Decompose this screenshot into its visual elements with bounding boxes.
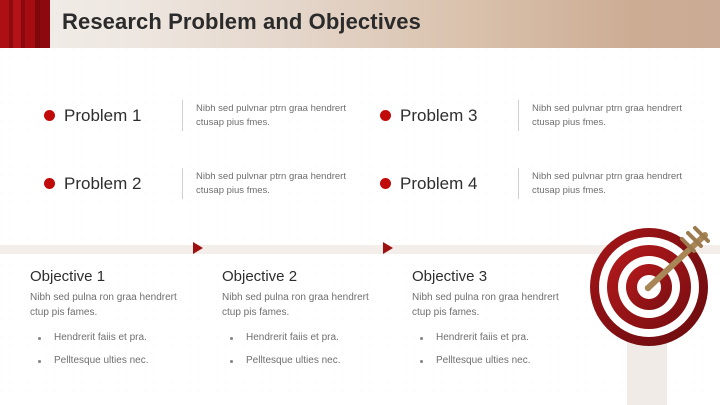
bullet-dot-icon <box>380 110 391 121</box>
problem-item-3[interactable]: Problem 3 Nibh sed pulvnar ptrn graa hen… <box>380 100 710 131</box>
objective-card-1[interactable]: Objective 1 Nibh sed pulna ron graa hend… <box>30 268 208 377</box>
timeline-arrow-icon <box>193 242 203 254</box>
objective-description: Nibh sed pulna ron graa hendrert ctup pi… <box>412 291 572 320</box>
problem-description: Nibh sed pulvnar ptrn graa hendrert ctus… <box>532 170 692 197</box>
timeline-arrow-icon <box>383 242 393 254</box>
list-item: Pelltesque ulties nec. <box>222 354 400 368</box>
vertical-divider <box>518 100 519 131</box>
problem-label: Problem 4 <box>400 174 518 194</box>
objective-bullet-list: Hendrerit faiis et pra. Pelltesque ultie… <box>412 331 590 368</box>
list-item: Pelltesque ulties nec. <box>412 354 590 368</box>
header-accent-bars <box>0 0 50 48</box>
problem-label: Problem 3 <box>400 106 518 126</box>
target-rings-icon <box>590 228 708 346</box>
objective-bullet-list: Hendrerit faiis et pra. Pelltesque ultie… <box>30 331 208 368</box>
target-graphic <box>572 222 720 405</box>
objective-title: Objective 3 <box>412 268 590 285</box>
objective-description: Nibh sed pulna ron graa hendrert ctup pi… <box>30 291 190 320</box>
problem-label: Problem 2 <box>64 174 182 194</box>
list-item: Hendrerit faiis et pra. <box>222 331 400 345</box>
objective-description: Nibh sed pulna ron graa hendrert ctup pi… <box>222 291 382 320</box>
objective-bullet-list: Hendrerit faiis et pra. Pelltesque ultie… <box>222 331 400 368</box>
list-item: Pelltesque ulties nec. <box>30 354 208 368</box>
bullet-dot-icon <box>44 178 55 189</box>
problem-description: Nibh sed pulvnar ptrn graa hendrert ctus… <box>532 102 692 129</box>
list-item: Hendrerit faiis et pra. <box>30 331 208 345</box>
problem-description: Nibh sed pulvnar ptrn graa hendrert ctus… <box>196 170 356 197</box>
vertical-divider <box>182 168 183 199</box>
problem-description: Nibh sed pulvnar ptrn graa hendrert ctus… <box>196 102 356 129</box>
objective-title: Objective 2 <box>222 268 400 285</box>
slide: Research Problem and Objectives Problem … <box>0 0 720 405</box>
list-item: Hendrerit faiis et pra. <box>412 331 590 345</box>
problem-item-4[interactable]: Problem 4 Nibh sed pulvnar ptrn graa hen… <box>380 168 710 199</box>
slide-header: Research Problem and Objectives <box>0 0 720 48</box>
objective-title: Objective 1 <box>30 268 208 285</box>
vertical-divider <box>182 100 183 131</box>
bullet-dot-icon <box>44 110 55 121</box>
bullet-dot-icon <box>380 178 391 189</box>
vertical-divider <box>518 168 519 199</box>
objective-card-3[interactable]: Objective 3 Nibh sed pulna ron graa hend… <box>412 268 590 377</box>
objective-card-2[interactable]: Objective 2 Nibh sed pulna ron graa hend… <box>222 268 400 377</box>
page-title: Research Problem and Objectives <box>62 9 421 35</box>
problem-item-2[interactable]: Problem 2 Nibh sed pulvnar ptrn graa hen… <box>44 168 374 199</box>
problem-label: Problem 1 <box>64 106 182 126</box>
problems-section: Problem 1 Nibh sed pulvnar ptrn graa hen… <box>0 90 720 215</box>
problem-item-1[interactable]: Problem 1 Nibh sed pulvnar ptrn graa hen… <box>44 100 374 131</box>
